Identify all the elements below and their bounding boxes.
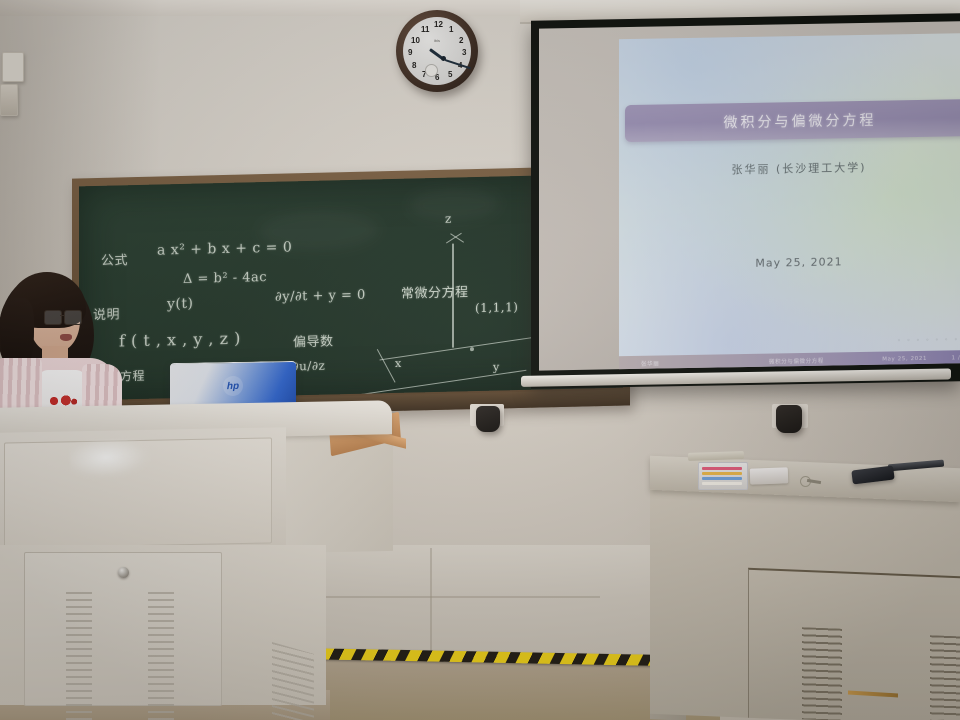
clock-numeral-12: 12 — [434, 21, 443, 29]
chalk-text: f ( t , x , y , z ) — [119, 329, 241, 351]
lens-left — [44, 310, 62, 325]
floor-tile-seam — [300, 596, 600, 598]
chalk-text: a x² + b x + c = 0 — [157, 239, 292, 258]
side-lectern-vent-right — [930, 635, 960, 720]
chalk-stick-white — [702, 482, 742, 485]
wall-speaker-left — [476, 406, 500, 432]
slide-date: May 25, 2021 — [619, 253, 960, 272]
podium-vent-right — [148, 592, 174, 720]
mouth — [60, 334, 72, 341]
clock-subdial — [425, 64, 438, 77]
blackboard-eraser[interactable] — [750, 467, 789, 484]
clock-numeral-2: 2 — [459, 37, 463, 45]
side-lectern-cabinet-door[interactable] — [748, 568, 960, 720]
clock-numeral-9: 9 — [408, 49, 412, 57]
chalk-point-label: (1,1,1) — [475, 300, 518, 315]
slide-nav-dots: ◦ ◦ ◦ ◦ ◦ ◦ ◦ ◦ — [897, 336, 960, 344]
chalk-axis-vertical — [452, 244, 454, 348]
chalk-plane-edge-bottom — [362, 370, 527, 395]
footer-author: 张华丽 — [641, 359, 659, 367]
clock-center-pin — [441, 56, 446, 61]
clock-numeral-8: 8 — [412, 62, 416, 70]
slide-title: 微积分与偏微分方程 — [625, 99, 960, 142]
projected-slide: 微积分与偏微分方程 张华丽 (长沙理工大学) May 25, 2021 ◦ ◦ … — [619, 33, 960, 371]
footer-title: 微积分与偏微分方程 — [769, 356, 824, 365]
footer-date: May 25, 2021 — [882, 355, 927, 362]
side-lectern-vent-left — [802, 627, 842, 720]
light-switch-plate-upper[interactable] — [2, 52, 24, 82]
chalk-axis-label-x: x — [395, 357, 402, 370]
chalk-text: 常微分方程 — [401, 281, 469, 302]
chalk-text: ∂y/∂t + y = 0 — [275, 288, 366, 305]
podium-vent-left — [66, 592, 92, 720]
clock-brand-label: ibis — [434, 38, 440, 43]
chalk-text: y(t) — [167, 296, 193, 313]
light-switch-plate-lower[interactable] — [0, 84, 18, 116]
chalk-stick-blue — [702, 477, 742, 480]
chalk-stick-yellow — [702, 472, 742, 475]
clock-numeral-1: 1 — [449, 26, 453, 34]
lens-right — [64, 310, 82, 325]
eyeglasses — [44, 310, 82, 323]
footer-page-number: 1 / 28 — [952, 355, 960, 361]
slide-footer-bar: 张华丽 微积分与偏微分方程 May 25, 2021 1 / 28 — [619, 350, 960, 371]
chalk-axis-label-y: y — [493, 360, 500, 373]
chalk-smudge — [409, 187, 499, 223]
chalk-point-marker — [470, 347, 474, 351]
keys[interactable] — [800, 476, 822, 486]
classroom-photo-scene: ibis 12 1 2 3 4 5 6 7 8 9 10 11 公式 a x² … — [0, 0, 960, 720]
podium-vent-side — [272, 642, 314, 720]
projection-screen: 微积分与偏微分方程 张华丽 (长沙理工大学) May 25, 2021 ◦ ◦ … — [531, 13, 960, 388]
clock-face: ibis 12 1 2 3 4 5 6 7 8 9 10 11 — [403, 17, 471, 85]
screen-surface: 微积分与偏微分方程 张华丽 (长沙理工大学) May 25, 2021 ◦ ◦ … — [539, 21, 960, 370]
clock-numeral-3: 3 — [462, 49, 466, 57]
wall-clock: ibis 12 1 2 3 4 5 6 7 8 9 10 11 — [396, 10, 478, 92]
chalk-stick-pink — [702, 467, 742, 470]
wall-speaker-right — [776, 405, 802, 433]
clock-numeral-10: 10 — [411, 37, 420, 45]
chalk-text: 偏导数 — [293, 330, 334, 350]
chalk-box[interactable] — [698, 462, 748, 490]
chalk-text: 公式 — [101, 249, 128, 269]
lock-icon[interactable] — [118, 567, 129, 578]
podium-scuff-mark — [69, 438, 151, 480]
slide-author: 张华丽 (长沙理工大学) — [619, 157, 960, 179]
chalk-text: Δ = b² - 4ac — [183, 270, 267, 287]
slide-title-banner: 微积分与偏微分方程 — [625, 99, 960, 142]
chalk-plane-edge-top — [380, 335, 545, 360]
clock-numeral-11: 11 — [421, 26, 429, 34]
chalk-axis-label-z: z — [445, 212, 452, 226]
clock-numeral-5: 5 — [448, 71, 452, 79]
chalk-plane-edge-left — [376, 349, 395, 383]
